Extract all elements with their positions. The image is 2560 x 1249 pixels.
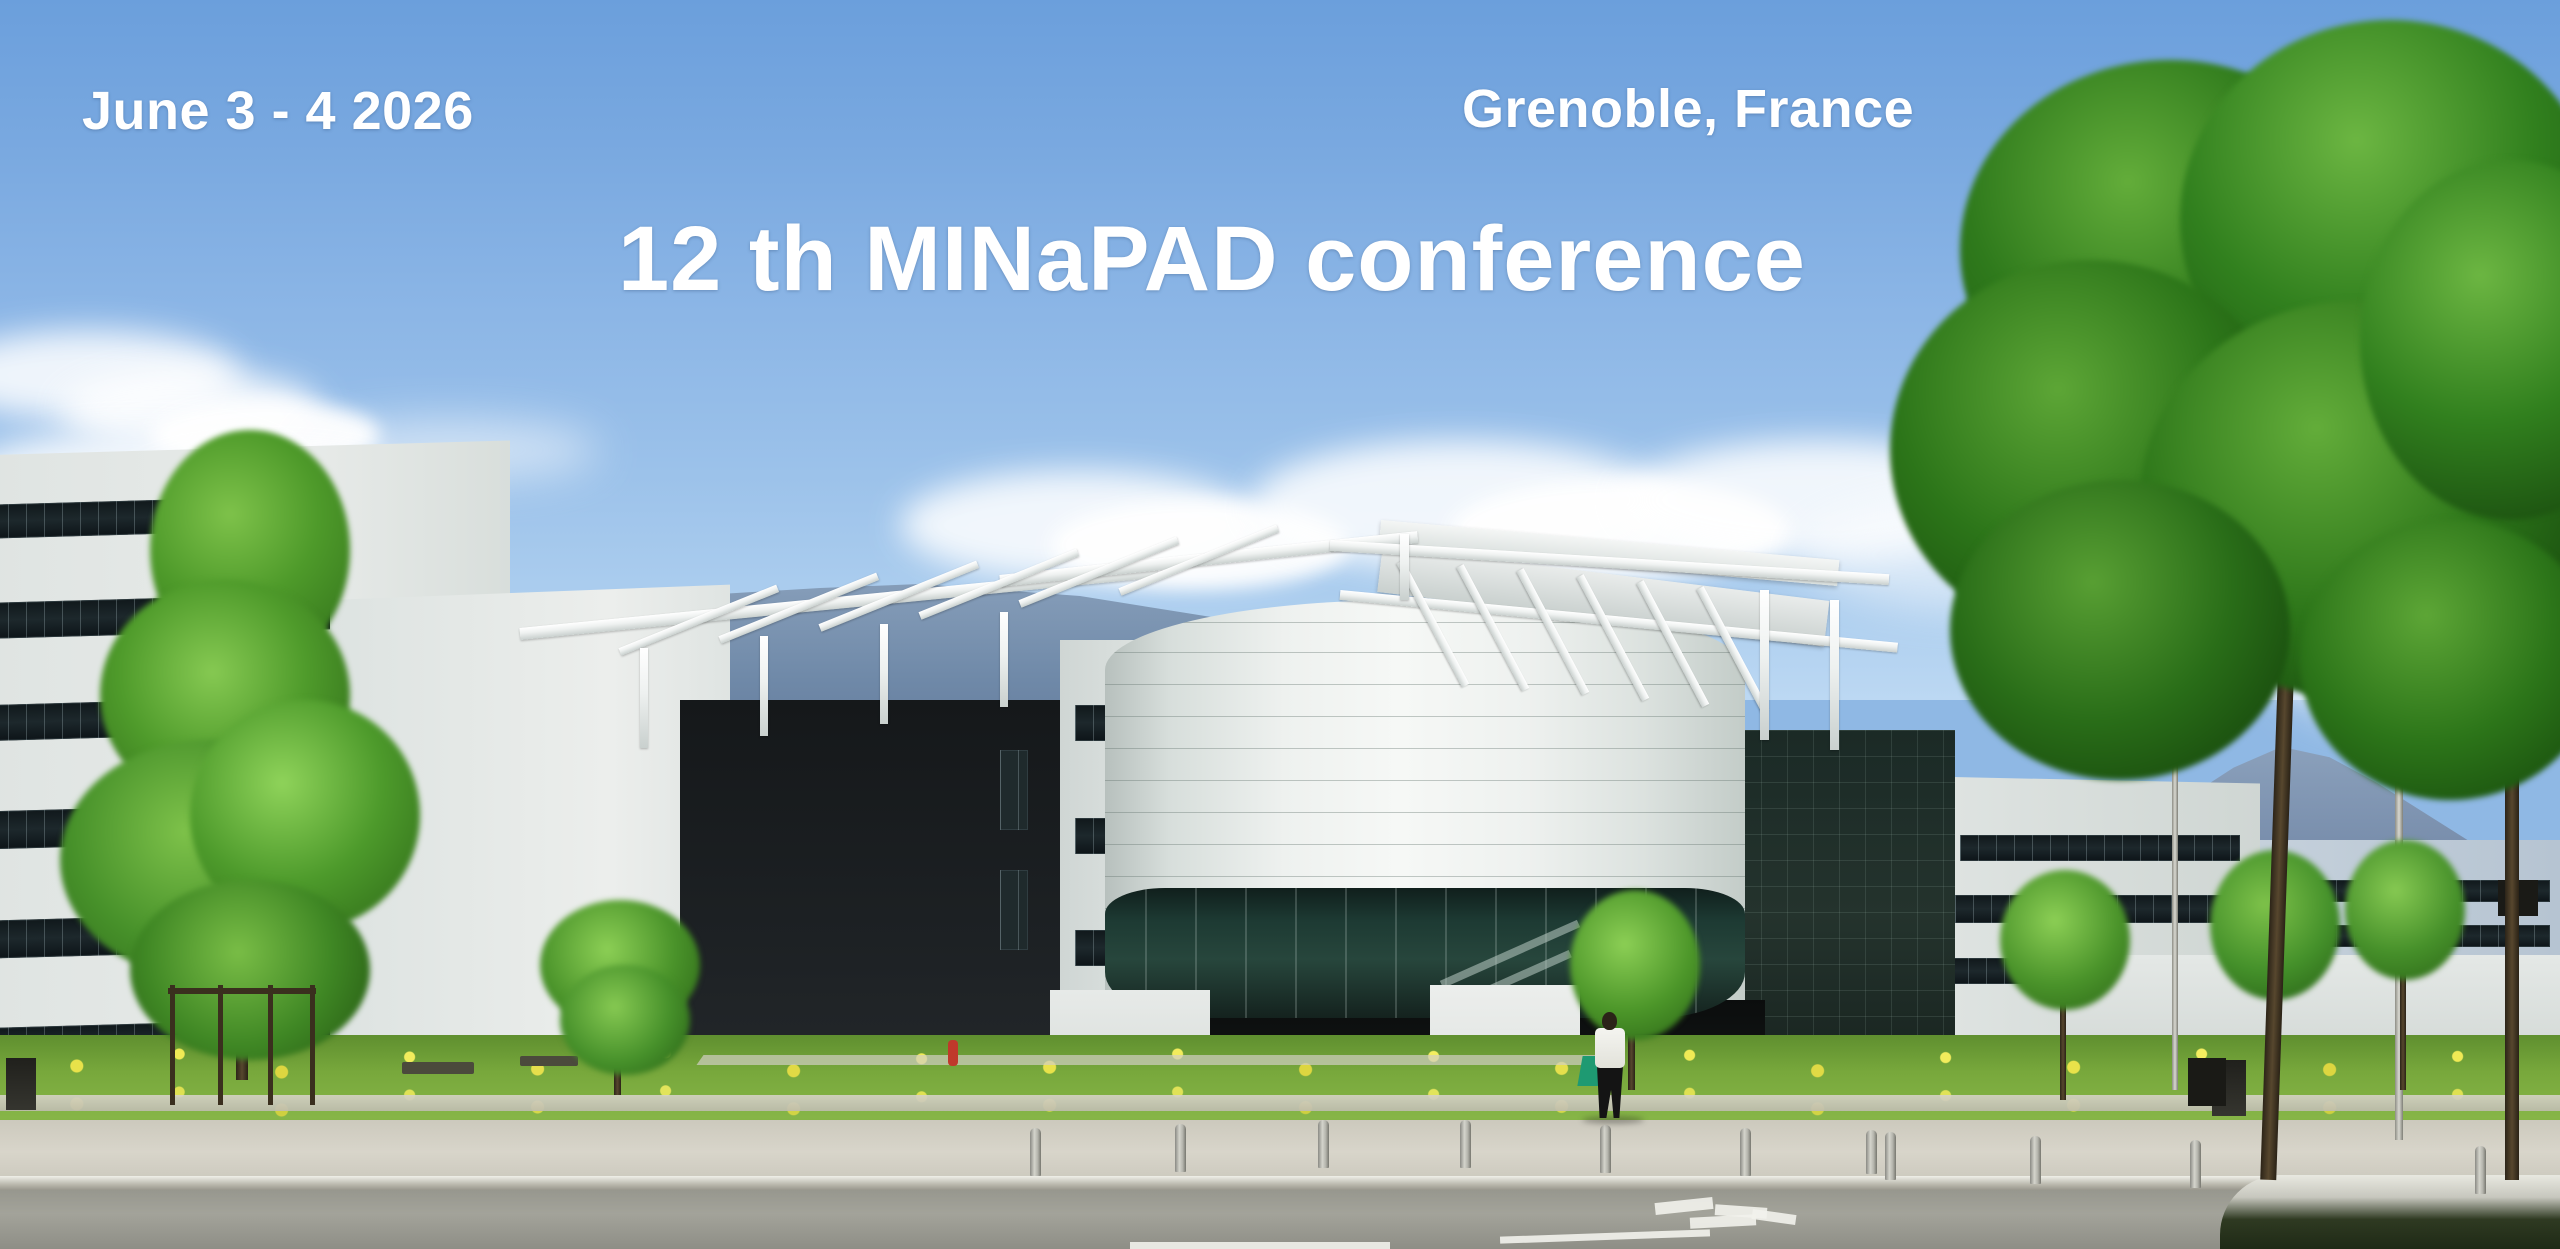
pedestrian-torso [1595,1028,1625,1068]
conference-banner: June 3 - 4 2026 Grenoble, France 12 th M… [0,0,2560,1249]
tree-canopy [1950,480,2290,780]
bollard [1600,1125,1611,1173]
lamp-post [2172,760,2178,1090]
bollard [1460,1120,1471,1168]
footpath [0,1095,2560,1111]
window-band [1000,750,1028,830]
bollard [1175,1124,1186,1172]
tree-canopy [560,965,690,1075]
canopy-column [760,636,768,736]
bollard [1030,1128,1041,1176]
canopy-column [1000,612,1008,707]
road-lane-marking [1130,1242,1390,1249]
canopy-column [1760,590,1769,740]
tree-canopy [2000,870,2130,1010]
tree-stake-rail [168,988,316,994]
pedestrian-shadow [1582,1116,1644,1124]
bollard [1740,1128,1751,1176]
conference-location: Grenoble, France [1462,78,1914,140]
bollard [1866,1130,1877,1174]
bench [520,1056,578,1066]
tree-stake [170,985,175,1105]
tree-stake [310,985,315,1105]
window-band [1000,870,1028,950]
tree-canopy [130,880,370,1060]
traffic-island [2220,1175,2560,1249]
tree-canopy [2345,840,2465,980]
canopy-column [1400,534,1409,600]
sign-box [2188,1058,2226,1106]
pedestrian-head [1602,1012,1617,1030]
bollard [2190,1140,2201,1188]
waste-bin [6,1058,36,1110]
canopy-column [640,648,648,748]
bollard [2030,1136,2041,1184]
fire-hydrant [948,1040,958,1066]
bollard [2475,1146,2486,1194]
canopy-column [1830,600,1839,750]
tree-stake [268,985,273,1105]
tree-stake [218,985,223,1105]
canopy-column [880,624,888,724]
bollard [1318,1120,1329,1168]
window-band [1960,835,2240,861]
conference-dates: June 3 - 4 2026 [82,80,474,142]
tree-canopy [1570,890,1700,1040]
conference-title: 12 th MINaPAD conference [618,207,1806,312]
bench [402,1062,474,1074]
bollard [1885,1132,1896,1180]
footpath [696,1055,1603,1065]
road [0,1190,2560,1249]
